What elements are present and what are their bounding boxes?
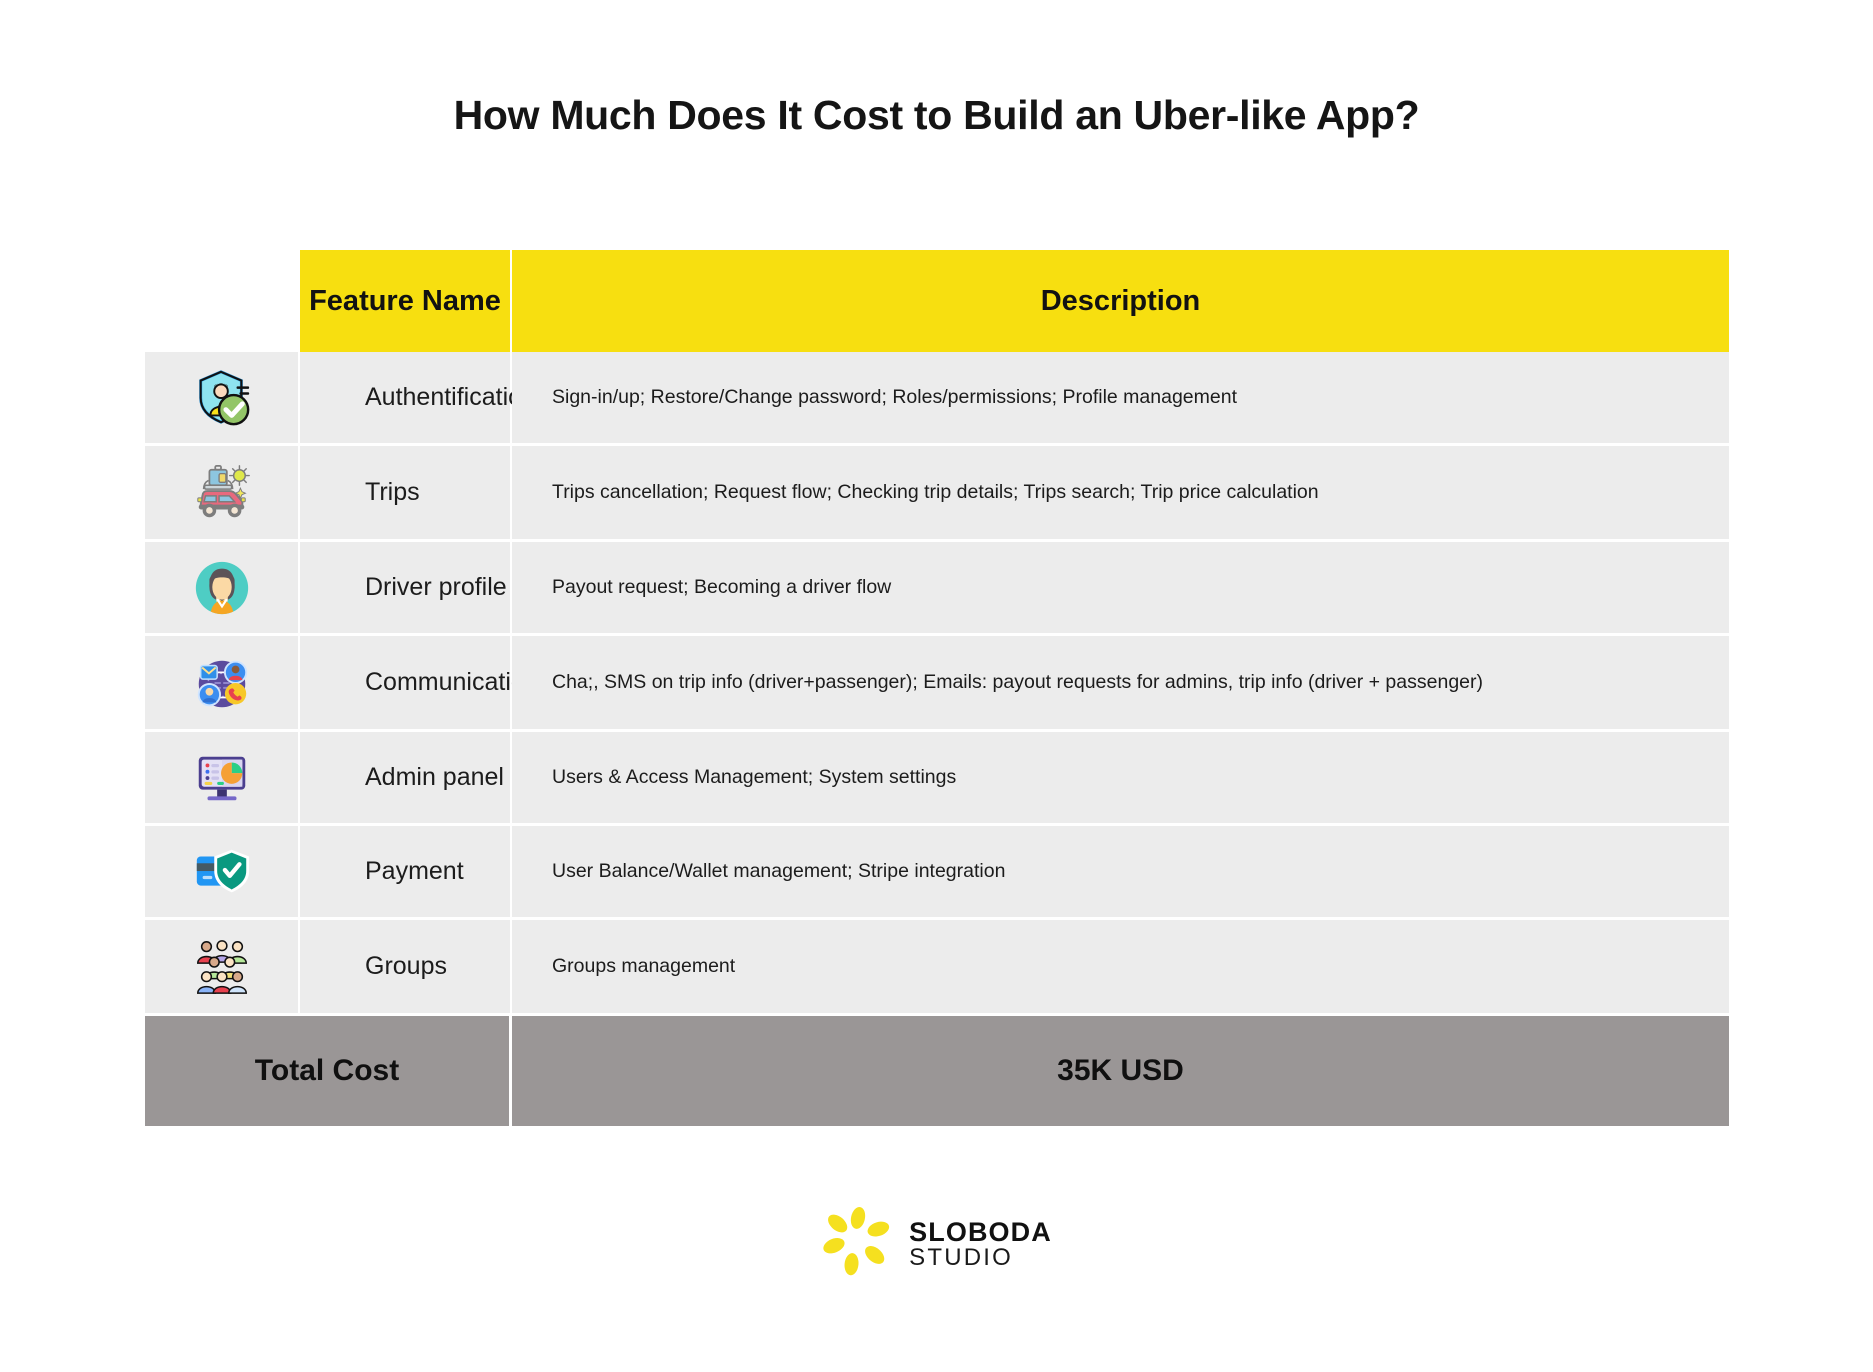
table-row: Driver profile Payout request; Becoming …	[145, 542, 1729, 636]
feature-name-cell: Admin panel	[300, 732, 512, 823]
row-icon-cell	[145, 732, 300, 823]
feature-description-cell: Trips cancellation; Request flow; Checki…	[512, 446, 1729, 539]
people-group-icon	[191, 936, 253, 998]
column-header-description: Description	[512, 250, 1729, 352]
table-row: Authentification Sign-in/up; Restore/Cha…	[145, 352, 1729, 446]
credit-card-shield-icon	[191, 841, 253, 903]
logo-company-name: SLOBODA	[909, 1218, 1052, 1246]
table-row: Trips Trips cancellation; Request flow; …	[145, 446, 1729, 542]
table-footer-row: Total Cost 35K USD	[145, 1016, 1729, 1126]
row-icon-cell	[145, 920, 300, 1013]
total-cost-label: Total Cost	[145, 1016, 512, 1126]
table-header-row: Feature Name Description	[145, 250, 1729, 352]
feature-name-cell: Trips	[300, 446, 512, 539]
feature-name-cell: Driver profile	[300, 542, 512, 633]
column-header-feature-name: Feature Name	[300, 250, 512, 352]
feature-description-cell: Cha;, SMS on trip info (driver+passenger…	[512, 636, 1729, 729]
feature-name-cell: Groups	[300, 920, 512, 1013]
row-icon-cell	[145, 446, 300, 539]
feature-name-cell: Communication	[300, 636, 512, 729]
table-row: Groups Groups management	[145, 920, 1729, 1016]
monitor-dashboard-icon	[191, 747, 253, 809]
table-row: Admin panel Users & Access Management; S…	[145, 732, 1729, 826]
feature-description-cell: Payout request; Becoming a driver flow	[512, 542, 1729, 633]
infographic-page: How Much Does It Cost to Build an Uber-l…	[0, 0, 1873, 1372]
total-cost-value: 35K USD	[512, 1016, 1729, 1126]
row-icon-cell	[145, 826, 300, 917]
brand-logo: SLOBODA STUDIO	[0, 1205, 1873, 1284]
row-icon-cell	[145, 636, 300, 729]
cost-breakdown-table: Feature Name Description	[145, 250, 1729, 1126]
logo-company-subtitle: STUDIO	[909, 1246, 1052, 1271]
driver-avatar-icon	[191, 557, 253, 619]
row-icon-cell	[145, 542, 300, 633]
feature-description-cell: User Balance/Wallet management; Stripe i…	[512, 826, 1729, 917]
table-row: Communication Cha;, SMS on trip info (dr…	[145, 636, 1729, 732]
car-luggage-icon	[191, 462, 253, 524]
row-icon-cell	[145, 352, 300, 443]
sloboda-flower-logo-icon	[821, 1205, 895, 1284]
feature-description-cell: Sign-in/up; Restore/Change password; Rol…	[512, 352, 1729, 443]
feature-name-cell: Authentification	[300, 352, 512, 443]
header-icon-spacer	[145, 250, 300, 352]
logo-wordmark: SLOBODA STUDIO	[909, 1218, 1052, 1271]
communication-network-icon	[191, 652, 253, 714]
feature-description-cell: Groups management	[512, 920, 1729, 1013]
shield-user-check-icon	[191, 367, 253, 429]
feature-name-cell: Payment	[300, 826, 512, 917]
page-title: How Much Does It Cost to Build an Uber-l…	[0, 92, 1873, 139]
table-row: Payment User Balance/Wallet management; …	[145, 826, 1729, 920]
feature-description-cell: Users & Access Management; System settin…	[512, 732, 1729, 823]
